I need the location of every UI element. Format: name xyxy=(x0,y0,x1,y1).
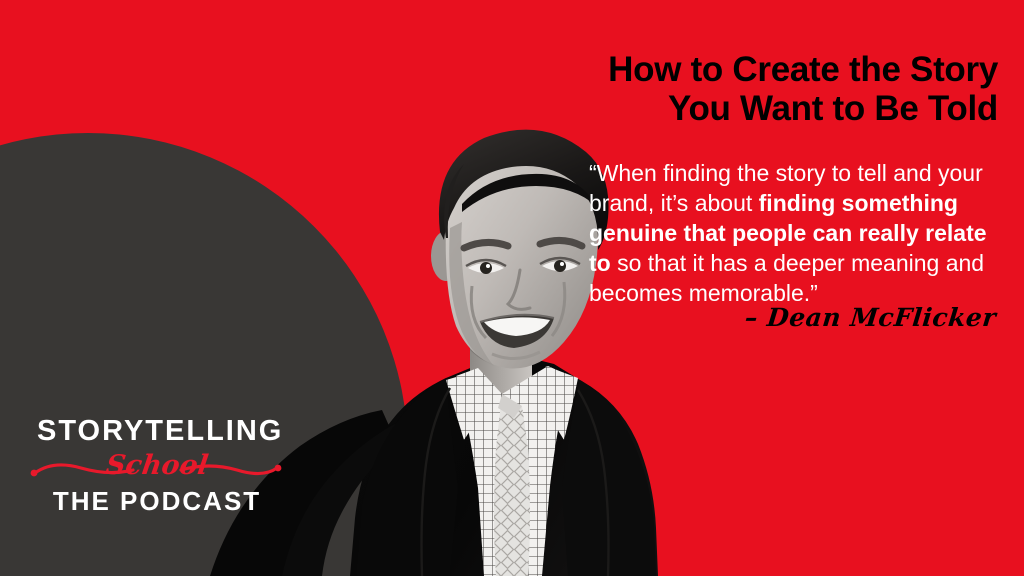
logo-script-school: School xyxy=(35,449,280,483)
brand-logo: STORYTELLING School THE PODCAST xyxy=(37,417,277,514)
logo-wordmark-storytelling: STORYTELLING xyxy=(37,417,277,446)
quote-attribution: – Dean McFlicker xyxy=(743,303,997,332)
podcast-promo-graphic: How to Create the Story You Want to Be T… xyxy=(0,0,1024,576)
logo-wordmark-the-podcast: THE PODCAST xyxy=(37,488,277,514)
title-line-1: How to Create the Story xyxy=(378,50,998,89)
pull-quote: “When finding the story to tell and your… xyxy=(589,159,1009,308)
logo-script-row: School xyxy=(37,448,277,488)
episode-title: How to Create the Story You Want to Be T… xyxy=(378,50,998,128)
title-line-2: You Want to Be Told xyxy=(378,89,998,128)
quote-part-2: so that it has a deeper meaning and beco… xyxy=(589,250,984,306)
